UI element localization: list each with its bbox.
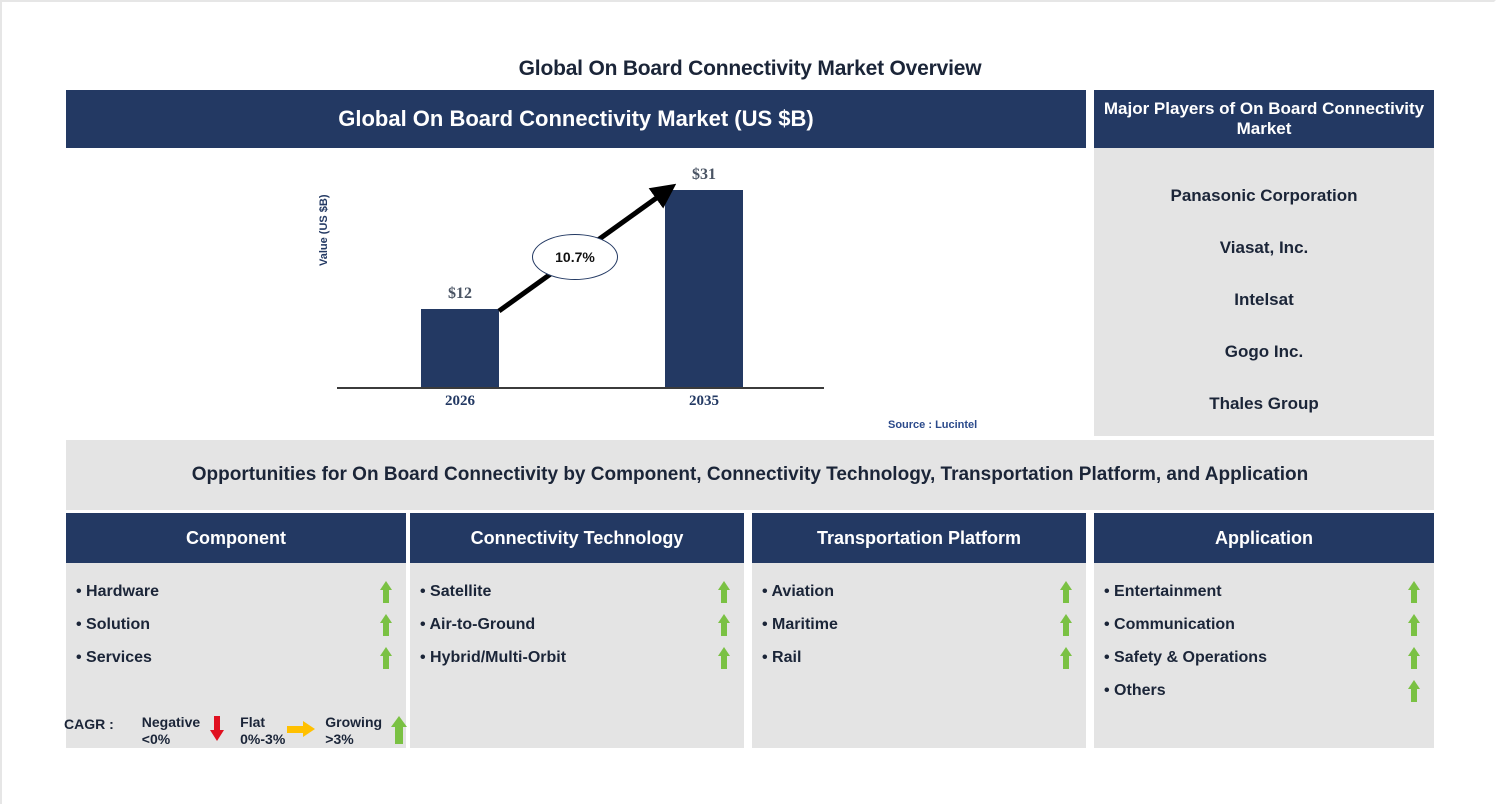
chart-y-axis-label: Value (US $B): [318, 194, 330, 266]
cagr-legend: CAGR : Negative <0% Flat 0%-3% Growing >…: [64, 714, 422, 747]
list-item: • Communication: [1104, 608, 1424, 641]
list-item: • Hybrid/Multi-Orbit: [420, 641, 734, 674]
growing-arrow-icon: [380, 614, 392, 636]
cagr-legend-entry-negative: Negative <0%: [142, 714, 234, 747]
growing-arrow-icon: [1060, 581, 1072, 603]
segment-list: • Entertainment • Communication • Safety…: [1094, 563, 1434, 748]
segment-item-label: • Others: [1104, 682, 1166, 700]
segment-item-label: • Rail: [762, 649, 801, 667]
major-players-list: Panasonic Corporation Viasat, Inc. Intel…: [1094, 148, 1434, 436]
segment-item-label: • Aviation: [762, 583, 834, 601]
list-item: Intelsat: [1094, 274, 1434, 326]
legend-icon-slot: [285, 714, 319, 740]
list-item: • Satellite: [420, 575, 734, 608]
growing-arrow-icon: [1060, 647, 1072, 669]
opportunities-banner: Opportunities for On Board Connectivity …: [66, 440, 1434, 510]
negative-arrow-icon: [210, 716, 224, 742]
growing-arrow-icon: [380, 581, 392, 603]
axis-tick-2035: 2035: [659, 393, 749, 410]
growing-arrow-icon: [718, 581, 730, 603]
list-item: • Entertainment: [1104, 575, 1424, 608]
segment-item-label: • Hybrid/Multi-Orbit: [420, 649, 566, 667]
segment-column-component: Component • Hardware • Solution • Servic…: [66, 513, 406, 748]
cagr-legend-text: Negative <0%: [142, 714, 200, 747]
growing-arrow-icon: [1060, 614, 1072, 636]
cagr-legend-text: Growing >3%: [325, 714, 382, 747]
segment-column-application: Application • Entertainment • Communicat…: [1094, 513, 1434, 748]
list-item: • Aviation: [762, 575, 1076, 608]
axis-tick-2026: 2026: [415, 393, 505, 410]
growing-arrow-icon: [1408, 680, 1420, 702]
segment-list: • Aviation • Maritime • Rail: [752, 563, 1086, 748]
segment-item-label: • Maritime: [762, 616, 838, 634]
segment-header: Connectivity Technology: [410, 513, 744, 563]
cagr-legend-range: 0%-3%: [240, 731, 285, 748]
list-item: Gogo Inc.: [1094, 326, 1434, 378]
growing-arrow-icon: [718, 614, 730, 636]
list-item: Thales Group: [1094, 378, 1434, 430]
segment-item-label: • Air-to-Ground: [420, 616, 535, 634]
segment-header: Transportation Platform: [752, 513, 1086, 563]
cagr-bubble: 10.7%: [532, 234, 618, 280]
cagr-legend-entry-growing: Growing >3%: [325, 714, 416, 747]
segment-item-label: • Services: [76, 649, 152, 667]
cagr-legend-name: Flat: [240, 714, 285, 731]
list-item: • Hardware: [76, 575, 396, 608]
source-note: Source : Lucintel: [888, 419, 977, 431]
cagr-legend-title: CAGR :: [64, 714, 114, 732]
cagr-legend-name: Negative: [142, 714, 200, 731]
legend-icon-slot: [382, 714, 416, 744]
list-item: Panasonic Corporation: [1094, 170, 1434, 222]
segment-item-label: • Solution: [76, 616, 150, 634]
list-item: • Others: [1104, 674, 1424, 707]
segment-item-label: • Entertainment: [1104, 583, 1222, 601]
list-item: • Safety & Operations: [1104, 641, 1424, 674]
segment-item-label: • Communication: [1104, 616, 1235, 634]
list-item: • Air-to-Ground: [420, 608, 734, 641]
segment-header: Application: [1094, 513, 1434, 563]
segment-column-connectivity-technology: Connectivity Technology • Satellite • Ai…: [410, 513, 744, 748]
list-item: • Maritime: [762, 608, 1076, 641]
cagr-legend-entry-flat: Flat 0%-3%: [240, 714, 319, 747]
cagr-legend-range: <0%: [142, 731, 200, 748]
list-item: • Rail: [762, 641, 1076, 674]
segment-item-label: • Hardware: [76, 583, 159, 601]
chart-x-axis: [337, 387, 824, 389]
infographic-page: Global On Board Connectivity Market Over…: [0, 0, 1496, 804]
major-players-header: Major Players of On Board Connectivity M…: [1094, 90, 1434, 148]
list-item: Viasat, Inc.: [1094, 222, 1434, 274]
page-title: Global On Board Connectivity Market Over…: [2, 57, 1496, 81]
growing-arrow-icon: [391, 716, 407, 744]
market-bar-chart: Value (US $B) $12 $31 10.7% 2026 2035 So…: [66, 148, 1086, 436]
segment-column-transportation-platform: Transportation Platform • Aviation • Mar…: [752, 513, 1086, 748]
segment-list: • Satellite • Air-to-Ground • Hybrid/Mul…: [410, 563, 744, 748]
segment-item-label: • Satellite: [420, 583, 491, 601]
legend-icon-slot: [200, 714, 234, 742]
growing-arrow-icon: [718, 647, 730, 669]
cagr-legend-range: >3%: [325, 731, 382, 748]
chart-card-header: Global On Board Connectivity Market (US …: [66, 90, 1086, 148]
segment-item-label: • Safety & Operations: [1104, 649, 1267, 667]
list-item: • Solution: [76, 608, 396, 641]
list-item: • Services: [76, 641, 396, 674]
growing-arrow-icon: [380, 647, 392, 669]
flat-arrow-icon: [287, 720, 317, 740]
growing-arrow-icon: [1408, 614, 1420, 636]
cagr-legend-text: Flat 0%-3%: [240, 714, 285, 747]
growing-arrow-icon: [1408, 581, 1420, 603]
cagr-legend-name: Growing: [325, 714, 382, 731]
segment-header: Component: [66, 513, 406, 563]
growing-arrow-icon: [1408, 647, 1420, 669]
